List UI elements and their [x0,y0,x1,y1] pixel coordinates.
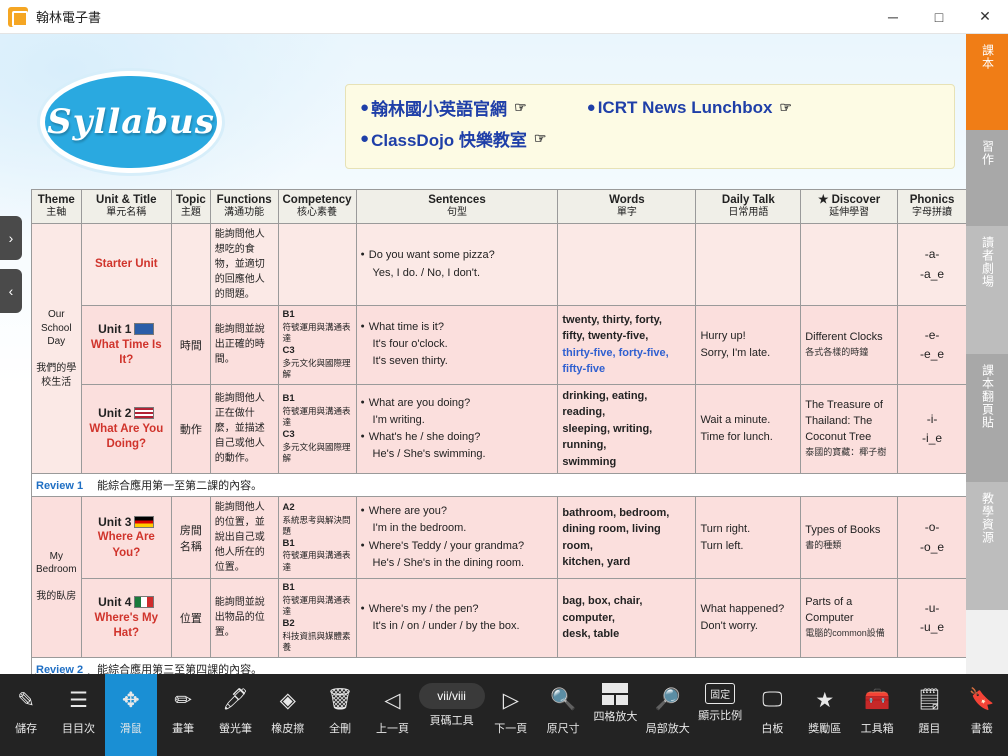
toolbar-item-label: 全刪 [329,720,351,736]
th-sentences-zh: 句型 [361,207,554,220]
link-icrt-news-label: ICRT News Lunchbox [598,98,773,118]
sidetab-teaching-resources[interactable]: 教學資源 [966,482,1008,610]
word-line: swimming [562,456,616,468]
link-icrt-news[interactable]: ● ICRT News Lunchbox ☞ [587,98,792,118]
toolbar-item-question[interactable]: 🗒題目 [903,674,955,756]
competency-code: B1 [283,309,295,320]
discover-en: Types of Books [805,524,880,536]
review-label: Review 1 [36,480,83,492]
sentence-main: Do you want some pizza? [361,247,554,264]
toolbar-item-pencil[interactable]: ✏畫筆 [157,674,209,756]
cell-phonics: -i--i_e [898,384,967,474]
toolbar-item-list[interactable]: ☰目目次 [52,674,104,756]
link-hanlin-site[interactable]: ● 翰林國小英語官網 ☞ [360,95,527,120]
syllabus-table: Theme 主軸 Unit & Title 單元名稱 Topic 主題 Func… [31,189,967,674]
discover-en: Parts of a Computer [805,596,853,624]
th-competency-zh: 核心素養 [283,207,352,220]
th-words-en: Words [609,194,645,206]
review-row: Review 1能綜合應用第一至第二課的內容。 [32,474,967,497]
table-head: Theme 主軸 Unit & Title 單元名稱 Topic 主題 Func… [32,190,967,224]
competency-code: B1 [283,393,295,404]
toolbar-item-cursor[interactable]: ✥滑鼠 [105,674,157,756]
review-cell: Review 1能綜合應用第一至第二課的內容。 [32,474,967,497]
unit-number: Unit 1 [98,322,131,336]
competency-code: C3 [283,429,295,440]
sentence-sub: He's / She's swimming. [361,446,554,463]
star-icon: ★ [815,683,834,717]
th-phonics-zh: 字母拼讀 [902,207,962,220]
cell-topic: 動作 [171,384,210,474]
cell-competency [278,224,356,306]
unit-number: Unit 3 [98,515,131,529]
toolbar-item-magnify[interactable]: 🔎局部放大 [642,674,694,756]
toolbar-item-label: 白板 [761,720,783,736]
th-unit-zh: 單元名稱 [86,207,167,220]
competency-text: 符號運用與溝通表達 [283,406,351,427]
cell-daily-talk: Hurry up!Sorry, I'm late. [696,306,801,385]
toolbar-item-label: 顯示比例 [698,707,742,723]
highlighter-icon: 🖊 [222,683,249,717]
sentence-sub: It's in / on / under / by the box. [361,618,554,635]
cell-functions: 能詢問他人想吃的食物，並適切的回應他人的問題。 [210,224,278,306]
sidetab-workbook[interactable]: 習作 [966,130,1008,226]
cell-sentences: What are you doing?I'm writing.What's he… [356,384,558,474]
th-sentences: Sentences 句型 [356,190,558,224]
toolbar-item-toolbox[interactable]: 🧰工具箱 [851,674,903,756]
cell-unit: Unit 1What Time Is It? [81,306,171,385]
review-text: 能綜合應用第一至第二課的內容。 [97,480,262,492]
cell-words: bag, box, chair, computer,desk, table [558,579,696,658]
cell-competency: B1符號運用與溝通表達B2科技資訊與媒體素養 [278,579,356,658]
word-line: bag, box, chair, computer, [562,595,642,624]
cell-unit: Unit 4Where's My Hat? [81,579,171,658]
list-icon: ☰ [69,683,88,717]
syllabus-bubble: Syllabus [45,76,217,168]
sentence-main: Where are you? [361,503,554,520]
competency-text: 科技資訊與媒體素養 [283,631,351,652]
word-line: fifty, twenty-five, [562,330,648,342]
competency-text: 符號運用與溝通表達 [283,595,351,616]
page-number-display[interactable]: vii/viii [419,683,485,709]
toolbar-item-page-number[interactable]: vii/viii頁碼工具 [419,674,485,756]
th-competency: Competency 核心素養 [278,190,356,224]
cell-functions: 能詢問他人正在做什麼，並描述自己或他人的動作。 [210,384,278,474]
th-discover-en: ★ Discover [818,194,880,206]
theme-en: OurSchoolDay [41,309,72,347]
app-icon [8,7,28,27]
link-hanlin-site-label: 翰林國小英語官網 [371,95,507,120]
phonics-line: -i_e [922,431,942,445]
sentence-sub: Yes, I do. / No, I don't. [361,265,554,282]
word-line: fifty-five [562,363,605,375]
sidetab-textbook-label: 課本 [980,44,995,70]
unit-title: Where's My Hat? [95,612,158,640]
unit-number: Unit 4 [98,595,131,609]
competency-text: 系統思考與解決問題 [283,515,351,536]
th-functions-en: Functions [217,194,272,206]
pointing-hand-icon: ☞ [534,130,547,147]
toolbar-item-label: 儲存 [15,720,37,736]
book-page-canvas: Syllabus ● 翰林國小英語官網 ☞ ● ICRT News Lunchb… [0,34,1008,674]
question-icon: 🗒 [916,683,943,717]
cell-phonics: -o--o_e [898,497,967,579]
sentence-sub: I'm in the bedroom. [361,520,554,537]
daily-line: Time for lunch. [700,431,772,443]
th-phonics-en: Phonics [910,194,955,206]
cell-topic: 房間名稱 [171,497,210,579]
sentence-sub: It's seven thirty. [361,353,554,370]
word-line: drinking, eating, reading, [562,390,647,419]
th-discover-zh: 延伸學習 [805,207,893,220]
toolbar-item-label: 橡皮擦 [271,720,304,736]
save-pen-icon: ✎ [17,683,35,717]
bullet-icon: ● [360,130,369,147]
toolbar-item-trash[interactable]: 🗑全刪 [314,674,366,756]
bullet-icon: ● [360,99,369,116]
cell-discover: The Treasure of Thailand: The Coconut Tr… [801,384,898,474]
cell-theme: MyBedroom我的臥房 [32,497,82,658]
zoom-icon: 🔍 [550,683,576,717]
toolbar-item-label: 局部放大 [646,720,690,736]
competency-text: 符號運用與溝通表達 [283,550,351,571]
discover-zh: 書的種類 [805,539,893,552]
th-words-zh: 單字 [562,207,691,220]
sidetab-readers-theater[interactable]: 讀者劇場 [966,226,1008,354]
th-daily-zh: 日常用語 [700,207,796,220]
toolbox-icon: 🧰 [864,683,890,717]
th-theme: Theme 主軸 [32,190,82,224]
phonics-line: -e- [925,328,940,342]
cell-competency: B1符號運用與溝通表達C3多元文化與國際理解 [278,306,356,385]
pointing-hand-icon: ☞ [514,99,527,116]
cell-topic [171,224,210,306]
table-row: MyBedroom我的臥房Unit 3Where Are You?房間名稱能詢問… [32,497,967,579]
prev-arrow-icon: ◁ [384,683,400,717]
theme-en: MyBedroom [36,551,77,576]
th-theme-en: Theme [38,194,75,206]
toolbar-item-bookmark[interactable]: 🔖書籤 [956,674,1008,756]
phonics-line: -o_e [920,540,944,554]
toolbar-item-label: 滑鼠 [120,720,142,736]
word-line: dining room, living room, [562,523,660,552]
trash-icon: 🗑 [327,683,354,717]
sidetab-readers-theater-label: 讀者劇場 [980,236,995,288]
whiteboard-icon: 🖵 [762,683,782,717]
sentence-sub: He's / She's in the dining room. [361,555,554,572]
discover-zh: 泰國的寶藏：椰子樹 [805,446,893,459]
cell-sentences: Where are you?I'm in the bedroom.Where's… [356,497,558,579]
th-topic-zh: 主題 [176,207,206,220]
phonics-line: -a- [925,247,940,261]
competency-code: B1 [283,582,295,593]
daily-line: Hurry up! [700,330,745,342]
cell-phonics: -u--u_e [898,579,967,658]
cell-sentences: Where's my / the pen?It's in / on / unde… [356,579,558,658]
word-line: bathroom, bedroom, [562,507,669,519]
phonics-line: -u_e [920,620,944,634]
links-row-2: ● ClassDojo 快樂教室 ☞ [360,126,940,151]
cell-competency: B1符號運用與溝通表達C3多元文化與國際理解 [278,384,356,474]
pointing-hand-icon: ☞ [779,99,792,116]
toolbar-item-zoom[interactable]: 🔍原尺寸 [537,674,589,756]
syllabus-title: Syllabus [47,102,215,142]
toolbar-item-save-pen[interactable]: ✎儲存 [0,674,52,756]
cell-sentences: Do you want some pizza?Yes, I do. / No, … [356,224,558,306]
sentence-main: What time is it? [361,319,554,336]
cell-functions: 能詢問並說出物品的位置。 [210,579,278,658]
toolbar-item-label: 四格放大 [593,708,637,724]
competency-text: 多元文化與國際理解 [283,358,351,379]
toolbar-item-prev-arrow[interactable]: ◁上一頁 [366,674,418,756]
cell-unit: Unit 3Where Are You? [81,497,171,579]
phonics-line: -i- [927,412,938,426]
th-phonics: Phonics 字母拼讀 [898,190,967,224]
daily-line: Wait a minute. [700,414,770,426]
toolbar-item-label: 題目 [918,720,940,736]
cell-daily-talk: What happened?Don't worry. [696,579,801,658]
toolbar-item-highlighter[interactable]: 🖊螢光筆 [209,674,261,756]
cell-discover: Parts of a Computer電腦的common設備 [801,579,898,658]
flag-uk-icon [134,323,154,335]
cell-daily-talk: Turn right.Turn left. [696,497,801,579]
minimize-button[interactable]: ─ [870,0,916,33]
toolbar-item-label: 螢光筆 [219,720,252,736]
cell-words: bathroom, bedroom,dining room, living ro… [558,497,696,579]
flag-mx-icon [134,596,154,608]
th-discover: ★ Discover 延伸學習 [801,190,898,224]
toolbar-item-whiteboard[interactable]: 🖵白板 [746,674,798,756]
toolbar-item-label: 書籤 [971,720,993,736]
word-line: desk, table [562,628,619,640]
maximize-button[interactable]: □ [916,0,962,33]
cell-theme: OurSchoolDay我們的學校生活 [32,224,82,474]
th-topic-en: Topic [176,194,206,206]
close-button[interactable]: ✕ [962,0,1008,33]
toolbar-item-label: 目目次 [62,720,95,736]
word-line: thirty-five, forty-five, [562,347,668,359]
theme-zh: 我們的學校生活 [36,363,76,388]
toolbar-item-grid-zoom[interactable]: 四格放大 [589,674,641,756]
page-flip-right-button[interactable]: › [0,216,22,260]
competency-text: 多元文化與國際理解 [283,442,351,463]
links-row-1: ● 翰林國小英語官網 ☞ ● ICRT News Lunchbox ☞ [360,95,940,120]
competency-code: B2 [283,618,295,629]
cell-sentences: What time is it?It's four o'clock.It's s… [356,306,558,385]
flag-de-icon [134,516,154,528]
sidetab-teaching-resources-label: 教學資源 [980,492,995,544]
table-body: OurSchoolDay我們的學校生活Starter Unit能詢問他人想吃的食… [32,224,967,675]
th-competency-en: Competency [283,194,352,206]
bookmark-icon: 🔖 [969,683,995,717]
sentence-main: What's he / she doing? [361,429,554,446]
phonics-line: -u- [925,601,940,615]
page-flip-left-button[interactable]: ‹ [0,269,22,313]
th-unit: Unit & Title 單元名稱 [81,190,171,224]
competency-text: 符號運用與溝通表達 [283,322,351,343]
competency-code: B1 [283,538,295,549]
cell-daily-talk: Wait a minute.Time for lunch. [696,384,801,474]
discover-zh: 電腦的common設備 [805,627,893,640]
sentence-main: What are you doing? [361,395,554,412]
toolbar-item-label: 畫筆 [172,720,194,736]
sidetab-textbook[interactable]: 課本 [966,34,1008,130]
unit-title: Starter Unit [95,258,158,270]
toolbar-item-label: 獎勵區 [808,720,841,736]
th-words: Words 單字 [558,190,696,224]
discover-en: The Treasure of Thailand: The Coconut Tr… [805,399,883,443]
th-daily-en: Daily Talk [722,194,775,206]
toolbar-item-label: 下一頁 [494,720,527,736]
daily-line: What happened? [700,603,784,615]
link-classdojo[interactable]: ● ClassDojo 快樂教室 ☞ [360,126,546,151]
magnify-icon: 🔎 [655,683,681,717]
toolbar-item-label: 頁碼工具 [430,712,474,728]
unit-number: Unit 2 [98,406,131,420]
eraser-icon: ◈ [280,683,296,717]
cell-unit: Starter Unit [81,224,171,306]
toolbar-item-label: 工具箱 [861,720,894,736]
cell-discover [801,224,898,306]
sentence-main: Where's my / the pen? [361,601,554,618]
th-functions: Functions 溝通功能 [210,190,278,224]
window-titlebar: 翰林電子書 ─ □ ✕ [0,0,1008,34]
toolbar-item-next-arrow[interactable]: ▷下一頁 [485,674,537,756]
table-row: Unit 2What Are You Doing?動作能詢問他人正在做什麼，並描… [32,384,967,474]
bottom-toolbar: ✎儲存☰目目次✥滑鼠✏畫筆🖊螢光筆◈橡皮擦🗑全刪◁上一頁vii/viii頁碼工具… [0,674,1008,756]
table-row: Unit 1What Time Is It?時間能詢問並說出正確的時間。B1符號… [32,306,967,385]
ratio-value[interactable]: 固定 [705,683,735,704]
competency-code: C3 [283,345,295,356]
table-header-row: Theme 主軸 Unit & Title 單元名稱 Topic 主題 Func… [32,190,967,224]
sentence-sub: It's four o'clock. [361,336,554,353]
cell-words [558,224,696,306]
th-theme-zh: 主軸 [36,207,77,220]
daily-line: Turn right. [700,523,750,535]
unit-title: Where Are You? [98,531,155,559]
th-functions-zh: 溝通功能 [215,207,274,220]
next-arrow-icon: ▷ [503,683,519,717]
daily-line: Don't worry. [700,620,758,632]
word-line: sleeping, writing, running, [562,423,652,452]
th-daily-talk: Daily Talk 日常用語 [696,190,801,224]
th-sentences-en: Sentences [428,194,486,206]
cell-functions: 能詢問並說出正確的時間。 [210,306,278,385]
phonics-line: -a_e [920,267,944,281]
toolbar-item-star[interactable]: ★獎勵區 [799,674,851,756]
word-line: kitchen, yard [562,556,630,568]
toolbar-item-label: 原尺寸 [547,720,580,736]
link-classdojo-label: ClassDojo 快樂教室 [371,126,527,151]
pencil-icon: ✏ [174,683,192,717]
bullet-icon: ● [587,99,596,116]
cell-functions: 能詢問他人的位置，並說出自己或他人所在的位置。 [210,497,278,579]
cell-phonics: -e--e_e [898,306,967,385]
cell-words: twenty, thirty, forty,fifty, twenty-five… [558,306,696,385]
cell-phonics: -a--a_e [898,224,967,306]
toolbar-item-ratio[interactable]: 固定顯示比例 [694,674,746,756]
daily-line: Sorry, I'm late. [700,347,770,359]
cell-discover: Types of Books書的種類 [801,497,898,579]
unit-title: What Time Is It? [91,339,162,367]
th-unit-en: Unit & Title [96,194,156,206]
daily-line: Turn left. [700,540,743,552]
side-tabs: 課本 習作 讀者劇場 課本翻頁貼 教學資源 [966,34,1008,674]
toolbar-item-eraser[interactable]: ◈橡皮擦 [262,674,314,756]
discover-zh: 各式各樣的時鐘 [805,346,893,359]
sentence-sub: I'm writing. [361,412,554,429]
sidetab-textbook-flip[interactable]: 課本翻頁貼 [966,354,1008,482]
th-topic: Topic 主題 [171,190,210,224]
cell-discover: Different Clocks各式各樣的時鐘 [801,306,898,385]
word-line: twenty, thirty, forty, [562,314,662,326]
unit-title: What Are You Doing? [89,423,163,451]
table-row: OurSchoolDay我們的學校生活Starter Unit能詢問他人想吃的食… [32,224,967,306]
table-row: Unit 4Where's My Hat?位置能詢問並說出物品的位置。B1符號運… [32,579,967,658]
cell-topic: 時間 [171,306,210,385]
cursor-icon: ✥ [122,683,140,717]
links-box: ● 翰林國小英語官網 ☞ ● ICRT News Lunchbox ☞ ● Cl… [345,84,955,169]
discover-en: Different Clocks [805,331,882,343]
cell-unit: Unit 2What Are You Doing? [81,384,171,474]
window-title: 翰林電子書 [36,7,101,26]
sidetab-workbook-label: 習作 [980,140,995,166]
flag-us-icon [134,407,154,419]
cell-words: drinking, eating, reading,sleeping, writ… [558,384,696,474]
phonics-line: -o- [925,520,940,534]
competency-code: A2 [283,502,295,513]
grid-zoom-icon [602,683,628,705]
sidetab-textbook-flip-label: 課本翻頁貼 [980,364,995,429]
cell-topic: 位置 [171,579,210,658]
theme-zh: 我的臥房 [36,591,76,602]
sentence-main: Where's Teddy / your grandma? [361,538,554,555]
phonics-line: -e_e [920,347,944,361]
cell-competency: A2系統思考與解決問題B1符號運用與溝通表達 [278,497,356,579]
toolbar-item-label: 上一頁 [376,720,409,736]
cell-daily-talk [696,224,801,306]
